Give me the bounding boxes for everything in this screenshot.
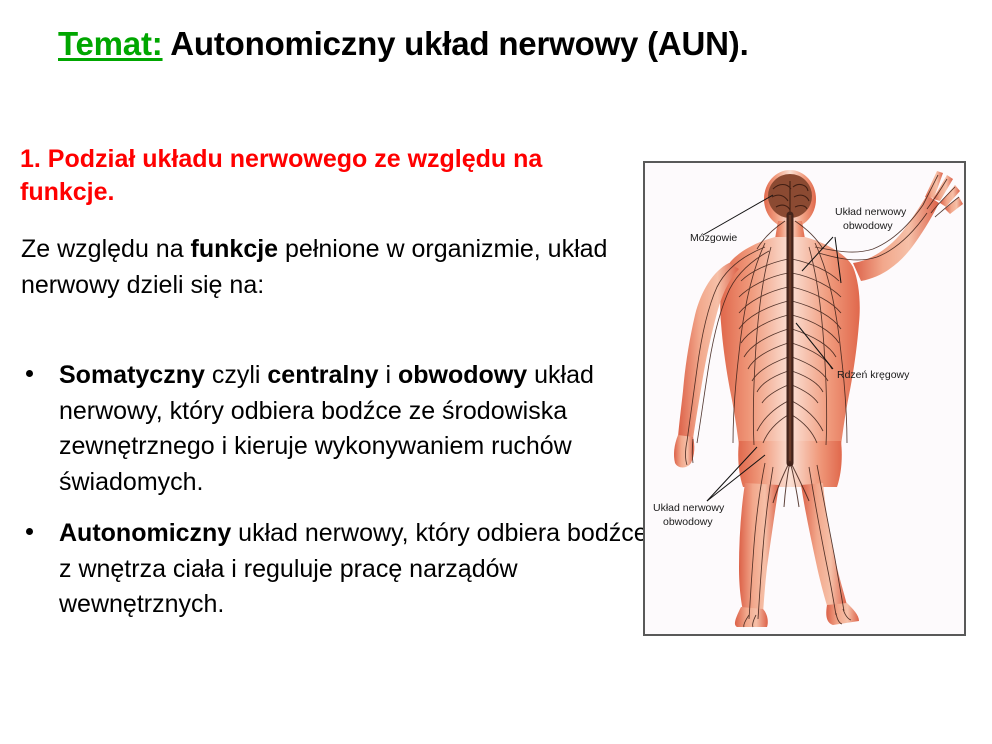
bullet-1-bold-obwodowy: obwodowy bbox=[398, 361, 527, 389]
nervous-system-figure: Mózgowie Układ nerwowy obwodowy Rdzeń kr… bbox=[643, 161, 966, 636]
bullet-dot-icon bbox=[26, 528, 33, 535]
paragraph-bold-funkcje: funkcje bbox=[191, 235, 279, 263]
bullet-list: Somatyczny czyli centralny i obwodowy uk… bbox=[21, 358, 661, 639]
nervous-system-illustration: Mózgowie Układ nerwowy obwodowy Rdzeń kr… bbox=[645, 163, 964, 634]
bullet-1-bold-somatyczny: Somatyczny bbox=[59, 361, 205, 389]
intro-paragraph: Ze względu na funkcje pełnione w organiz… bbox=[21, 232, 636, 303]
paragraph-part-1: Ze względu na bbox=[21, 235, 191, 263]
label-peripheral-top-line-1: Układ nerwowy bbox=[835, 206, 907, 218]
list-item: Autonomiczny układ nerwowy, który odbier… bbox=[21, 516, 661, 623]
label-peripheral-bottom-line-2: obwodowy bbox=[663, 516, 713, 528]
bullet-2-bold-autonomiczny: Autonomiczny bbox=[59, 519, 231, 547]
title-highlight: Temat: bbox=[58, 25, 163, 62]
bullet-1-bold-centralny: centralny bbox=[267, 361, 378, 389]
bullet-dot-icon bbox=[26, 370, 33, 377]
list-item: Somatyczny czyli centralny i obwodowy uk… bbox=[21, 358, 661, 500]
bullet-1-mid-2: i bbox=[379, 361, 398, 389]
brain-icon bbox=[768, 174, 812, 218]
label-brain: Mózgowie bbox=[690, 232, 737, 244]
label-spinal-cord: Rdzeń kręgowy bbox=[837, 369, 910, 381]
bullet-1-mid-1: czyli bbox=[205, 361, 268, 389]
label-peripheral-bottom-line-1: Układ nerwowy bbox=[653, 502, 725, 514]
page-title: Temat: Autonomiczny układ nerwowy (AUN). bbox=[58, 22, 938, 66]
leader-brain bbox=[703, 195, 773, 235]
title-rest: Autonomiczny układ nerwowy (AUN). bbox=[163, 25, 749, 62]
label-peripheral-top-line-2: obwodowy bbox=[843, 220, 893, 232]
slide-canvas: Temat: Autonomiczny układ nerwowy (AUN).… bbox=[0, 0, 992, 744]
section-heading: 1. Podział układu nerwowego ze względu n… bbox=[20, 143, 620, 208]
